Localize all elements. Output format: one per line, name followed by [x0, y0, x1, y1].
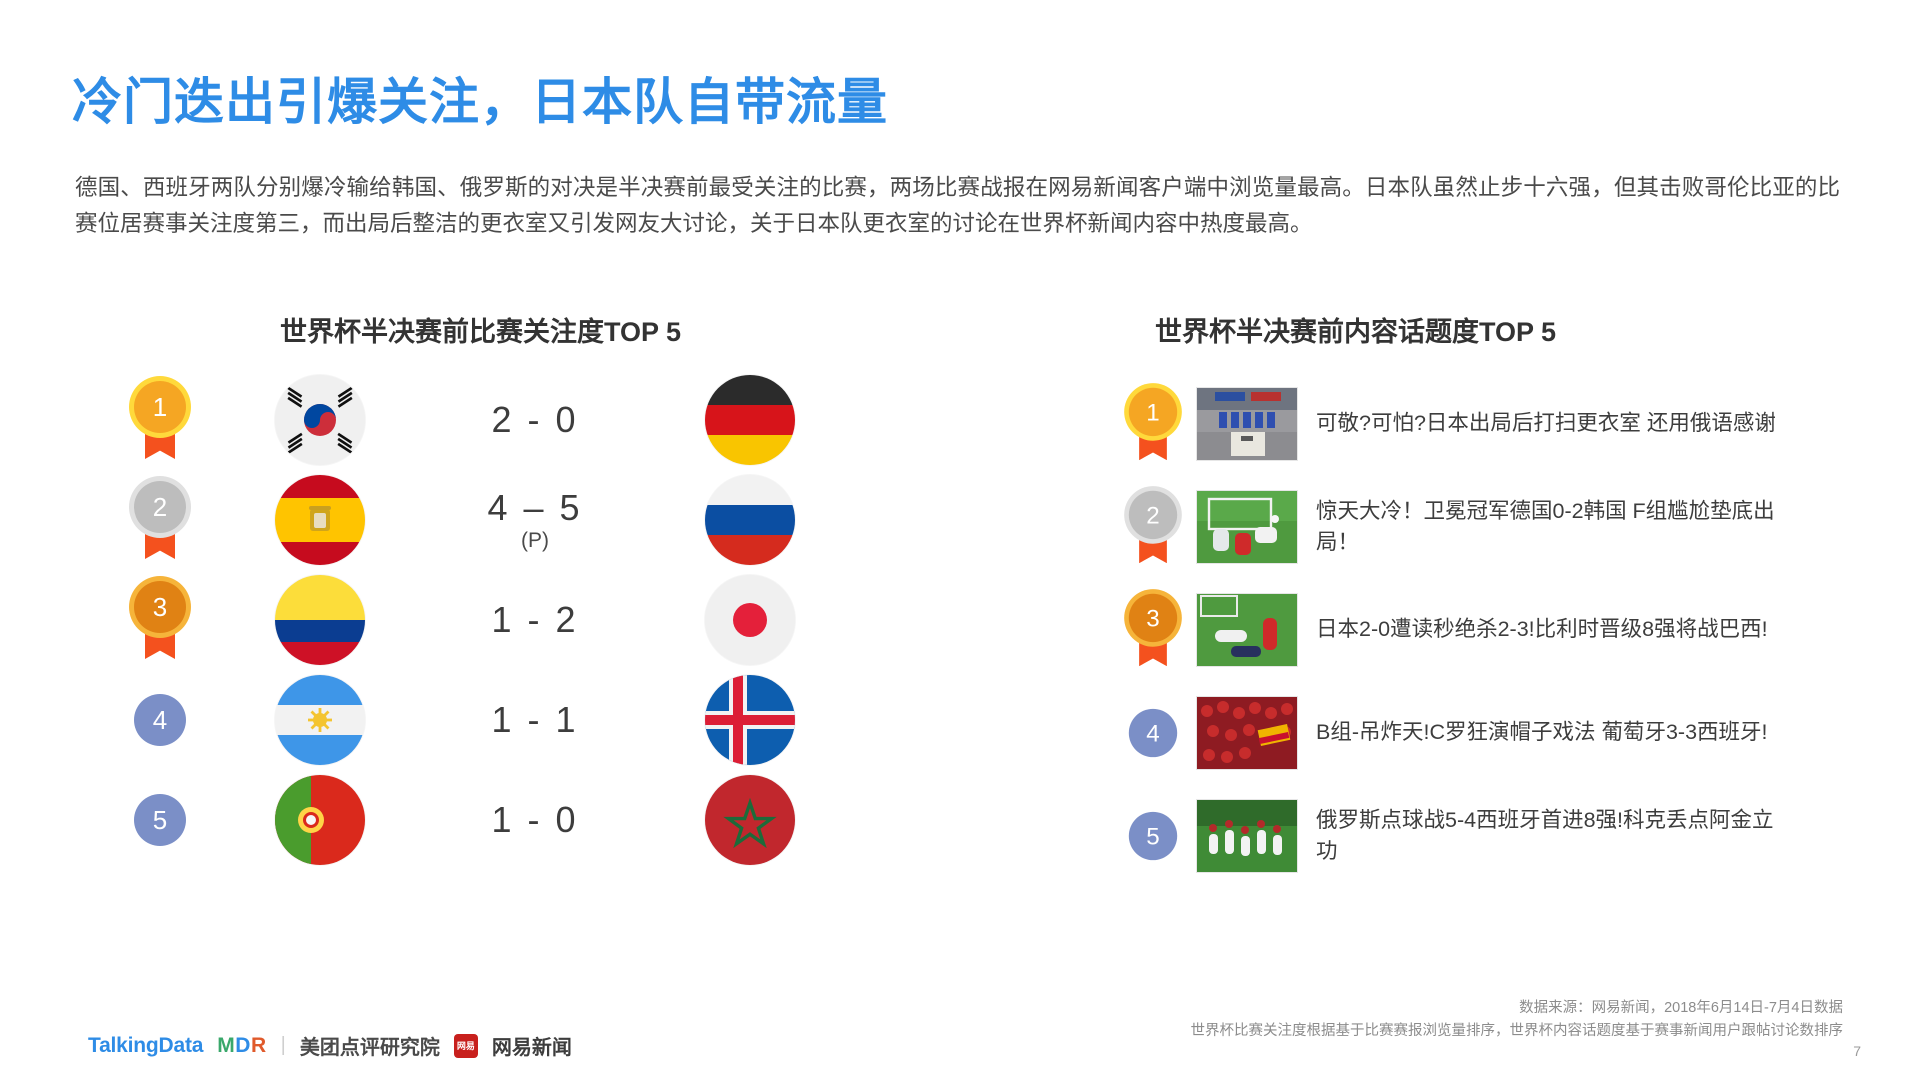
flag-icon-KR [275, 375, 365, 465]
news-topic-list: 1 可敬?可怕?日本出局后打扫更衣室 还用俄语感谢 2 [1110, 372, 1870, 887]
list-item[interactable]: 2 惊天大冷！卫冕冠军德国0-2韩国 F组尴尬垫底出局！ [1110, 475, 1870, 578]
away-team-flag-cell [650, 775, 850, 865]
page-title: 冷门迭出引爆关注，日本队自带流量 [72, 62, 888, 134]
home-team-flag-cell [220, 375, 420, 465]
talkingdata-logo: TalkingData [88, 1034, 203, 1058]
rank-medal-news-2: 2 [1124, 490, 1182, 563]
thumbnail-locker-room-photo [1196, 387, 1298, 461]
page-number: 7 [1853, 1043, 1861, 1059]
home-team-flag-cell [220, 575, 420, 665]
score-cell: 1 - 0 [420, 800, 650, 840]
news-headline: 可敬?可怕?日本出局后打扫更衣室 还用俄语感谢 [1316, 408, 1786, 439]
rank-cell: 4 [1110, 707, 1196, 759]
away-team-flag-cell [650, 575, 850, 665]
match-score: 1 - 1 [491, 700, 578, 740]
right-chart-heading: 世界杯半决赛前内容话题度TOP 5 [1155, 310, 1556, 349]
news-headline: B组-吊炸天!C罗狂演帽子戏法 葡萄牙3-3西班牙! [1316, 717, 1786, 748]
rank-cell: 5 [1110, 810, 1196, 862]
footer-logos: TalkingData MDR | 美团点评研究院 网易 网易新闻 [88, 1031, 572, 1060]
rank-cell: 1 [100, 381, 220, 459]
source-note: 数据来源：网易新闻，2018年6月14日-7月4日数据 世界杯比赛关注度根据基于… [1191, 997, 1844, 1043]
list-item[interactable]: 1 可敬?可怕?日本出局后打扫更衣室 还用俄语感谢 [1110, 372, 1870, 475]
list-item[interactable]: 3 日本2-0遭读秒绝杀2-3!比利时晋级8强将战巴西! [1110, 578, 1870, 681]
rank-medal-2: 2 [129, 481, 191, 559]
rank-cell: 3 [1110, 591, 1196, 669]
rank-medal-news-3: 3 [1124, 593, 1182, 666]
flag-icon-RU [705, 475, 795, 565]
flag-icon-IS [705, 675, 795, 765]
flag-icon-DE [705, 375, 795, 465]
rank-cell: 5 [100, 794, 220, 846]
table-row: 5 1 - 0 [100, 770, 880, 870]
match-score: 2 - 0 [491, 400, 578, 440]
rank-cell: 4 [100, 694, 220, 746]
flag-icon-ES [275, 475, 365, 565]
away-team-flag-cell [650, 375, 850, 465]
intro-paragraph: 德国、西班牙两队分别爆冷输给韩国、俄罗斯的对决是半决赛前最受关注的比赛，两场比赛… [75, 170, 1840, 242]
rank-cell: 3 [100, 581, 220, 659]
rank-circle-news-5: 5 [1129, 811, 1177, 859]
flag-icon-MA [705, 775, 795, 865]
table-row: 3 1 - 2 [100, 570, 880, 670]
away-team-flag-cell [650, 675, 850, 765]
score-cell: 1 - 1 [420, 700, 650, 740]
ribbon-icon [145, 629, 175, 659]
home-team-flag-cell [220, 475, 420, 565]
source-line-2: 世界杯比赛关注度根据基于比赛赛报浏览量排序，世界杯内容话题度基于赛事新闻用户跟帖… [1191, 1020, 1844, 1043]
medal-disc: 1 [1129, 387, 1177, 435]
flag-icon-PT [275, 775, 365, 865]
medal-disc: 1 [134, 381, 186, 433]
rank-medal-news-1: 1 [1124, 387, 1182, 460]
news-headline: 日本2-0遭读秒绝杀2-3!比利时晋级8强将战巴西! [1316, 614, 1786, 645]
list-item[interactable]: 5 俄罗斯点球战5-4西班牙首进8强!科克丢点阿金立功 [1110, 784, 1870, 887]
rank-medal-1: 1 [129, 381, 191, 459]
match-attention-list: 1 [100, 370, 880, 870]
flag-icon-CO [275, 575, 365, 665]
mdr-logo: MDR [217, 1034, 266, 1058]
thumbnail-celebration-photo [1196, 799, 1298, 873]
table-row: 4 [100, 670, 880, 770]
table-row: 1 [100, 370, 880, 470]
slide-root: 冷门迭出引爆关注，日本队自带流量 德国、西班牙两队分别爆冷输给韩国、俄罗斯的对决… [0, 0, 1921, 1080]
rank-circle-news-4: 4 [1129, 708, 1177, 756]
medal-disc: 2 [1129, 490, 1177, 538]
home-team-flag-cell [220, 675, 420, 765]
ribbon-icon [145, 529, 175, 559]
thumbnail-pitch-players-photo [1196, 593, 1298, 667]
netease-news-logo: 网易新闻 [492, 1031, 572, 1060]
news-headline: 俄罗斯点球战5-4西班牙首进8强!科克丢点阿金立功 [1316, 805, 1786, 867]
rank-circle-4: 4 [134, 694, 186, 746]
source-line-1: 数据来源：网易新闻，2018年6月14日-7月4日数据 [1191, 997, 1844, 1020]
away-team-flag-cell [650, 475, 850, 565]
score-cell: 1 - 2 [420, 600, 650, 640]
flag-icon-JP [705, 575, 795, 665]
left-chart-heading: 世界杯半决赛前比赛关注度TOP 5 [280, 310, 681, 349]
match-score: 1 - 0 [491, 800, 578, 840]
score-cell: 4 – 5 (P) [420, 488, 650, 553]
list-item[interactable]: 4 B组-吊炸天!C罗狂演帽子戏法 葡萄牙3-3西班牙! [1110, 681, 1870, 784]
news-headline: 惊天大冷！卫冕冠军德国0-2韩国 F组尴尬垫底出局！ [1316, 496, 1786, 558]
match-score: 1 - 2 [491, 600, 578, 640]
thumbnail-goal-mouth-photo [1196, 490, 1298, 564]
rank-circle-5: 5 [134, 794, 186, 846]
medal-disc: 3 [134, 581, 186, 633]
ribbon-icon [145, 429, 175, 459]
thumbnail-red-crowd-photo [1196, 696, 1298, 770]
match-score: 4 – 5 [487, 488, 582, 528]
medal-disc: 3 [1129, 593, 1177, 641]
rank-cell: 2 [100, 481, 220, 559]
score-note: (P) [521, 529, 549, 553]
logo-divider: | [281, 1034, 286, 1057]
flag-icon-AR [275, 675, 365, 765]
home-team-flag-cell [220, 775, 420, 865]
medal-disc: 2 [134, 481, 186, 533]
rank-cell: 2 [1110, 488, 1196, 566]
netease-badge-icon: 网易 [454, 1034, 478, 1058]
rank-cell: 1 [1110, 385, 1196, 463]
rank-medal-3: 3 [129, 581, 191, 659]
score-cell: 2 - 0 [420, 400, 650, 440]
meituan-research-logo: 美团点评研究院 [300, 1031, 440, 1060]
table-row: 2 4 – 5 (P) [100, 470, 880, 570]
